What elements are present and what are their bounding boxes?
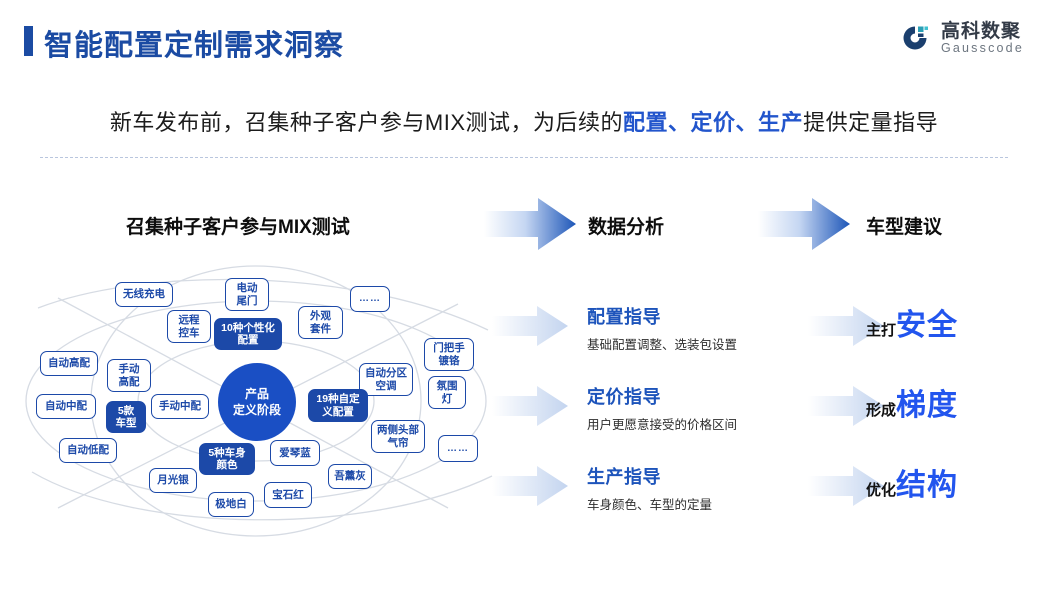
node-polar-white[interactable]: 极地白 xyxy=(208,492,254,517)
subtitle-part1: 新车发布前，召集种子客户参与MIX测试，为后续的 xyxy=(110,110,623,135)
node-label: …… xyxy=(359,293,381,305)
logo-text-cn: 高科数聚 xyxy=(941,22,1024,42)
guidance-subtitle: 基础配置调整、选装包设置 xyxy=(587,334,737,353)
node-appearance-kit[interactable]: 外观套件 xyxy=(298,306,343,339)
node-label-l2: 配置 xyxy=(238,334,259,346)
node-label-l1: 5款 xyxy=(118,405,134,417)
node-label-l1: 自动分区 xyxy=(365,367,407,379)
node-label-l1: 远程 xyxy=(179,314,200,326)
node-label-l2: 尾门 xyxy=(237,295,258,307)
node-label: 爱琴蓝 xyxy=(279,447,311,459)
node-ruby-red[interactable]: 宝石红 xyxy=(264,482,312,508)
node-label-l2: 颜色 xyxy=(217,459,238,471)
node-auto-mid-trim[interactable]: 自动中配 xyxy=(36,394,96,419)
node-label-l1: 电动 xyxy=(237,282,258,294)
node-five-body-colors[interactable]: 5种车身颜色 xyxy=(199,443,255,475)
node-ellipsis-top[interactable]: …… xyxy=(350,286,390,312)
node-manual-mid-trim[interactable]: 手动中配 xyxy=(151,394,209,419)
node-label-l1: 5种车身 xyxy=(208,447,245,459)
node-label-l1: 两侧头部 xyxy=(377,424,419,436)
node-aegean-blue[interactable]: 爱琴蓝 xyxy=(270,440,320,466)
node-label: 无线充电 xyxy=(123,288,165,300)
logo-text-en: Gausscode xyxy=(941,42,1024,55)
node-auto-zone-ac[interactable]: 自动分区空调 xyxy=(359,363,413,396)
guidance-row-production: 生产指导 车身颜色、车型的定量 xyxy=(587,463,712,513)
node-side-head-airbag[interactable]: 两侧头部气帘 xyxy=(371,420,425,453)
node-power-tailgate[interactable]: 电动尾门 xyxy=(225,278,269,311)
slide-root: 智能配置定制需求洞察 高科数聚 Gausscode 新车发布前，召集种子客户参与… xyxy=(0,0,1048,589)
guidance-row-configuration: 配置指导 基础配置调整、选装包设置 xyxy=(587,303,737,353)
subtitle-highlight: 配置、定价、生产 xyxy=(623,110,803,135)
column-title-mix-test: 召集种子客户参与MIX测试 xyxy=(126,212,350,239)
subtitle-part2: 提供定量指导 xyxy=(803,110,938,135)
node-label: 极地白 xyxy=(215,498,247,510)
node-ten-personalized-configs[interactable]: 10种个性化配置 xyxy=(214,318,282,350)
subtitle: 新车发布前，召集种子客户参与MIX测试，为后续的配置、定价、生产提供定量指导 xyxy=(0,105,1048,137)
advice-row-structure: 优化 结构 xyxy=(866,460,958,504)
advice-keyword: 梯度 xyxy=(896,380,958,424)
guidance-subtitle: 用户更愿意接受的价格区间 xyxy=(587,414,737,433)
section-divider xyxy=(40,157,1008,158)
node-label: 自动中配 xyxy=(45,400,87,412)
flow-arrow-1-icon xyxy=(484,198,576,250)
advice-prefix: 优化 xyxy=(866,479,896,500)
node-label-l2: 义配置 xyxy=(322,406,354,418)
node-door-handle-chrome[interactable]: 门把手镀铬 xyxy=(424,338,474,371)
node-lavender-grey[interactable]: 吾薰灰 xyxy=(328,464,372,489)
page-title: 智能配置定制需求洞察 xyxy=(44,22,344,64)
node-label-l1: 门把手 xyxy=(433,342,465,354)
guidance-title: 定价指导 xyxy=(587,383,737,409)
node-ambient-light[interactable]: 氛围灯 xyxy=(428,376,466,409)
guidance-title: 配置指导 xyxy=(587,303,737,329)
node-label-l2: 控车 xyxy=(179,327,200,339)
product-definition-mindmap: 产品 定义阶段 无线充电 电动尾门 远程控车 外观套件 …… 10种个性化配置 … xyxy=(18,258,518,543)
advice-prefix: 形成 xyxy=(866,399,896,420)
node-label-l1: 手动 xyxy=(119,363,140,375)
node-label: 吾薰灰 xyxy=(334,470,366,482)
brand-logo: 高科数聚 Gausscode xyxy=(899,22,1024,55)
node-nineteen-custom-configs[interactable]: 19种自定义配置 xyxy=(308,389,368,422)
guidance-subtitle: 车身颜色、车型的定量 xyxy=(587,494,712,513)
node-label: 宝石红 xyxy=(272,489,304,501)
node-label: 自动低配 xyxy=(67,444,109,456)
node-label-l2: 高配 xyxy=(119,376,140,388)
node-label: …… xyxy=(447,443,469,455)
node-label-l1: 氛围 xyxy=(437,380,458,392)
node-label-l1: 外观 xyxy=(310,310,331,322)
node-label: 手动中配 xyxy=(159,400,201,412)
node-five-models[interactable]: 5款车型 xyxy=(106,401,146,433)
node-label-l2: 气帘 xyxy=(388,437,409,449)
node-label-l1: 10种个性化 xyxy=(221,322,275,334)
center-line-1: 产品 xyxy=(245,387,269,401)
node-label-l2: 灯 xyxy=(442,393,453,405)
gausscode-logo-icon xyxy=(899,22,932,55)
guidance-title: 生产指导 xyxy=(587,463,712,489)
node-label: 自动高配 xyxy=(48,357,90,369)
guidance-row-pricing: 定价指导 用户更愿意接受的价格区间 xyxy=(587,383,737,433)
node-ellipsis-right[interactable]: …… xyxy=(438,435,478,462)
advice-keyword: 安全 xyxy=(896,300,958,344)
column-title-model-advice: 车型建议 xyxy=(866,212,942,239)
node-wireless-charging[interactable]: 无线充电 xyxy=(115,282,173,307)
node-auto-low-trim[interactable]: 自动低配 xyxy=(59,438,117,463)
node-moonlight-silver[interactable]: 月光银 xyxy=(149,468,197,493)
node-label-l2: 空调 xyxy=(376,380,397,392)
column-title-data-analysis: 数据分析 xyxy=(588,212,664,239)
advice-prefix: 主打 xyxy=(866,319,896,340)
advice-row-safety: 主打 安全 xyxy=(866,300,958,344)
node-label-l2: 套件 xyxy=(310,323,331,335)
node-manual-high-trim[interactable]: 手动高配 xyxy=(107,359,151,392)
node-label-l2: 车型 xyxy=(116,417,137,429)
node-remote-control[interactable]: 远程控车 xyxy=(167,310,211,343)
diagram-center-node: 产品 定义阶段 xyxy=(218,363,296,441)
advice-row-tier: 形成 梯度 xyxy=(866,380,958,424)
node-label-l2: 镀铬 xyxy=(439,355,460,367)
node-label: 月光银 xyxy=(157,474,189,486)
node-label-l1: 19种自定 xyxy=(316,393,359,405)
center-line-2: 定义阶段 xyxy=(233,403,281,417)
title-accent-bar xyxy=(24,26,33,56)
node-auto-high-trim[interactable]: 自动高配 xyxy=(40,351,98,376)
flow-arrow-2-icon xyxy=(758,198,850,250)
advice-keyword: 结构 xyxy=(896,460,958,504)
